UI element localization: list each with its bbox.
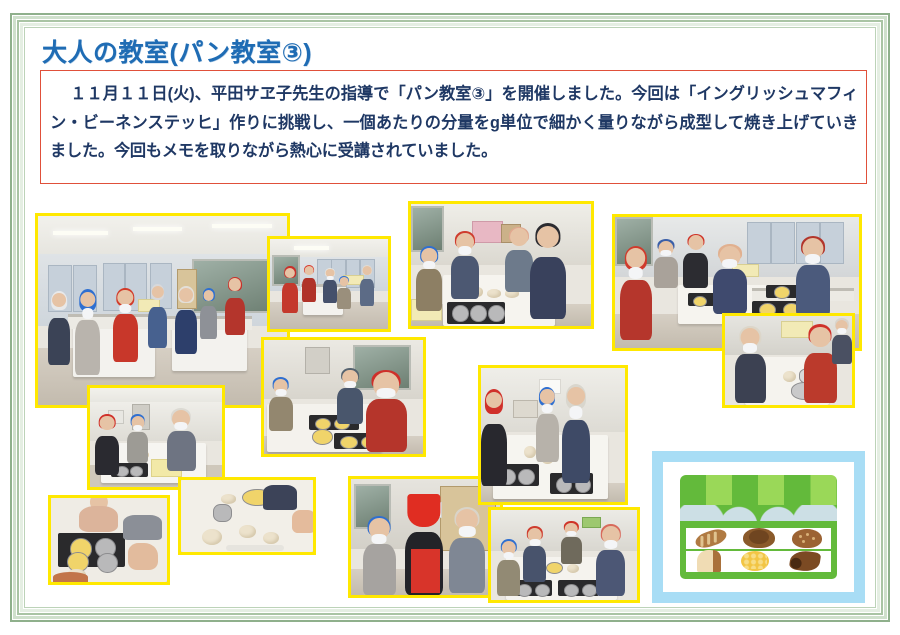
awning-icon (680, 475, 837, 507)
photo-weighing-dough[interactable] (48, 495, 170, 585)
photo-instructor-demo[interactable] (261, 337, 426, 457)
shelf-row-bottom (686, 551, 831, 572)
description-textbox: １１月１１日(火)、平田サヱ子先生の指導で「パン教室③」を開催しました。今回は「… (40, 70, 867, 184)
photo-counter-work[interactable] (267, 236, 391, 332)
awning-scallop (680, 505, 837, 522)
bread-slice-icon (697, 550, 721, 572)
melon-pan-icon (741, 551, 769, 571)
round-bread-icon (792, 529, 822, 548)
photo-tray-line[interactable] (408, 201, 594, 329)
illustration-canvas (663, 462, 854, 592)
photo-classroom-overview[interactable] (35, 213, 290, 408)
poster-page: 大人の教室(パン教室③) １１月１１日(火)、平田サヱ子先生の指導で「パン教室③… (0, 0, 900, 635)
bakery-shop-illustration (652, 451, 865, 603)
display-case (680, 521, 837, 579)
description-paragraph: １１月１１日(火)、平田サヱ子先生の指導で「パン教室③」を開催しました。今回は「… (41, 71, 866, 166)
photo-collage (30, 195, 870, 603)
cornet-icon (789, 549, 821, 573)
photo-hands-tray[interactable] (178, 477, 316, 555)
awning-skirt (680, 505, 837, 522)
photo-tray-group[interactable] (488, 507, 640, 603)
page-title: 大人の教室(パン教室③) (42, 33, 312, 69)
croissant-icon (743, 528, 775, 548)
bakery-display-case (680, 475, 837, 579)
photo-group-table[interactable] (478, 365, 628, 505)
shelf-row-top (686, 528, 831, 549)
photo-mixing-bowl[interactable] (722, 313, 855, 408)
baguette-icon (693, 526, 728, 550)
photo-dough-shaping-table[interactable] (87, 385, 225, 490)
poster-content: 大人の教室(パン教室③) １１月１１日(火)、平田サヱ子先生の指導で「パン教室③… (30, 33, 870, 603)
